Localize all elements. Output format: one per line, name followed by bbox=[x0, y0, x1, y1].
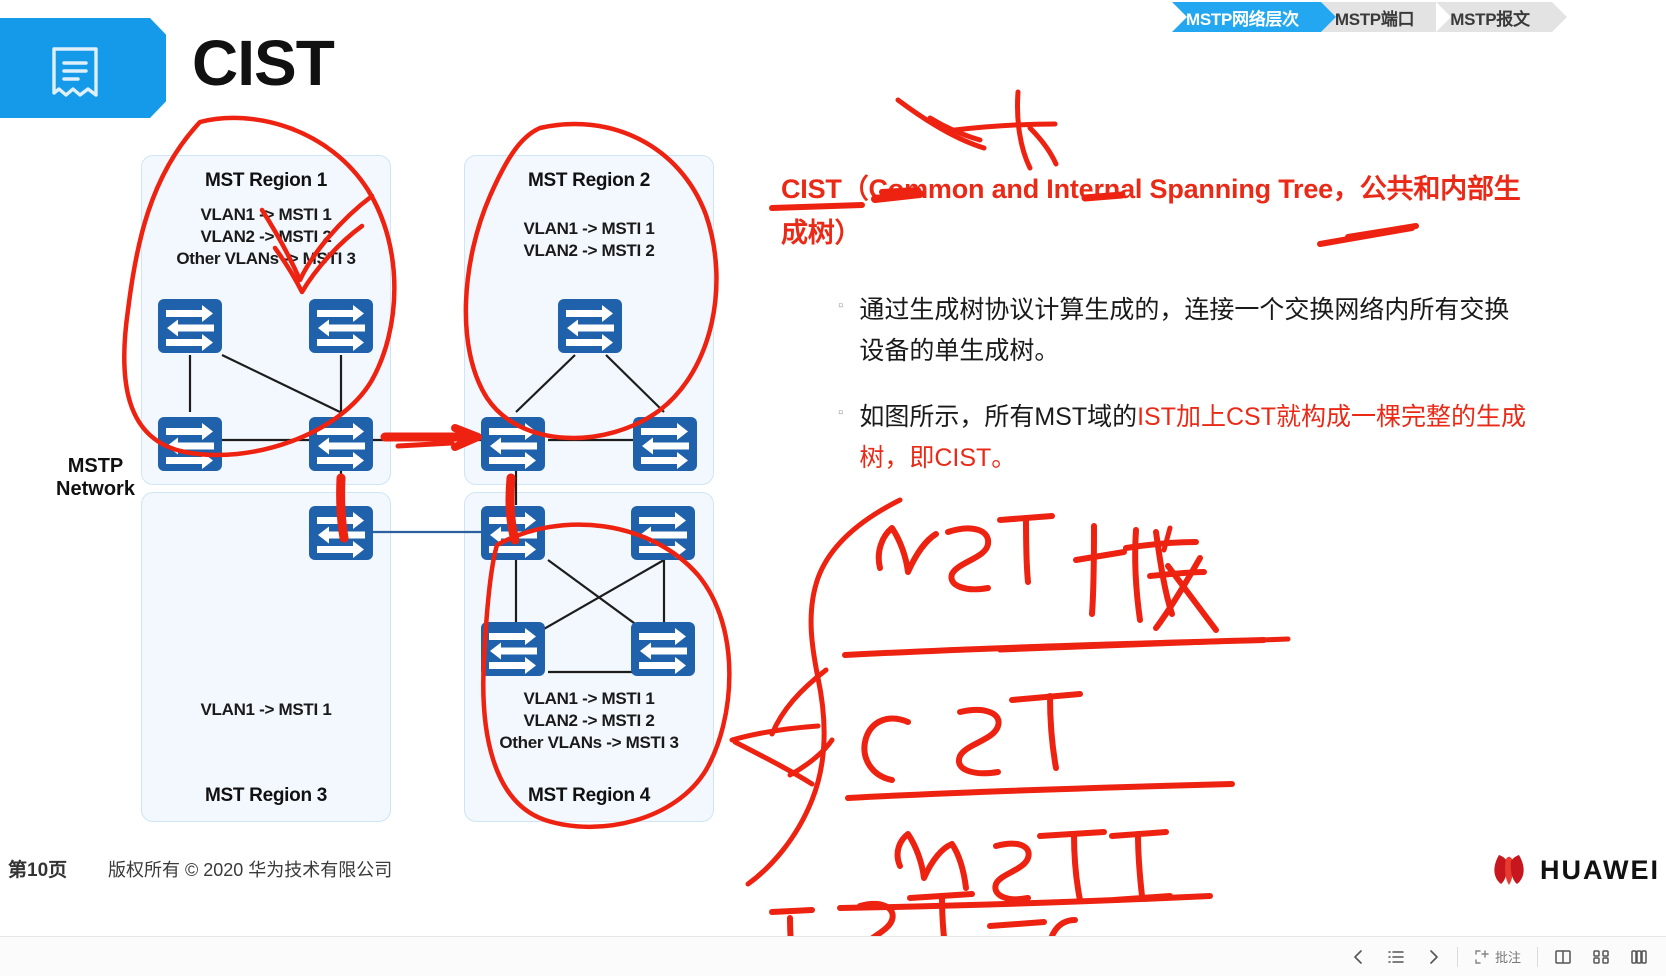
page-list-button[interactable] bbox=[1377, 941, 1415, 973]
book-view-icon bbox=[1554, 949, 1572, 965]
column-view-icon bbox=[1630, 949, 1648, 965]
next-page-button[interactable] bbox=[1415, 941, 1451, 973]
chevron-left-icon bbox=[1351, 949, 1367, 965]
switch-r2-bottom-right bbox=[633, 417, 697, 471]
page-title: CIST bbox=[192, 26, 334, 100]
annotate-button[interactable]: 批注 bbox=[1464, 941, 1531, 973]
bullet-text: 通过生成树协议计算生成的，连接一个交换网络内所有交换设备的单生成树。 bbox=[859, 290, 1528, 371]
toolbar-divider bbox=[1457, 947, 1458, 967]
page-number-label: 第10页 bbox=[8, 855, 67, 882]
heading-line-1: CIST（Common and Internal Spanning Tree，公… bbox=[781, 168, 1581, 212]
switch-r1-bottom-left bbox=[158, 417, 222, 471]
switch-r4-bottom-left bbox=[481, 622, 545, 676]
heading-line-2: 成树） bbox=[781, 212, 1581, 256]
bullet-text-black: 如图所示，所有MST域的 bbox=[859, 403, 1137, 431]
title-banner bbox=[0, 18, 150, 118]
bullet-dot-icon: ▫ bbox=[838, 397, 843, 478]
diagram-links bbox=[0, 140, 760, 840]
cist-definition-heading: CIST（Common and Internal Spanning Tree，公… bbox=[781, 168, 1581, 255]
prev-page-button[interactable] bbox=[1341, 941, 1377, 973]
list-icon bbox=[1387, 949, 1405, 965]
mstp-network-diagram: MSTP Network MST Region 1 VLAN1 -> MSTI … bbox=[0, 140, 760, 840]
document-list-icon bbox=[48, 46, 102, 107]
switch-r1-top-left bbox=[158, 299, 222, 353]
tab-mstp-packet[interactable]: MSTP报文 bbox=[1436, 2, 1551, 32]
bullet-item-1: ▫ 通过生成树协议计算生成的，连接一个交换网络内所有交换设备的单生成树。 bbox=[838, 290, 1528, 371]
column-view-button[interactable] bbox=[1620, 941, 1658, 973]
section-tab-bar[interactable]: MSTP网络层次 MSTP端口 MSTP报文 bbox=[1172, 2, 1666, 36]
annotate-icon bbox=[1474, 949, 1491, 965]
switch-r1-bottom-right bbox=[309, 417, 373, 471]
grid-view-button[interactable] bbox=[1582, 941, 1620, 973]
book-view-button[interactable] bbox=[1544, 941, 1582, 973]
huawei-logo: HUAWEI bbox=[1489, 853, 1660, 887]
switch-r2-bottom-left bbox=[481, 417, 545, 471]
bullet-dot-icon: ▫ bbox=[838, 290, 843, 371]
tab-label: MSTP端口 bbox=[1335, 5, 1414, 30]
tab-mstp-network-layers[interactable]: MSTP网络层次 bbox=[1172, 2, 1321, 32]
bullet-list: ▫ 通过生成树协议计算生成的，连接一个交换网络内所有交换设备的单生成树。 ▫ 如… bbox=[838, 290, 1528, 504]
switch-r4-top-left bbox=[481, 506, 545, 560]
slide-canvas: MSTP网络层次 MSTP端口 MSTP报文 CIST MSTP Network bbox=[0, 0, 1666, 976]
switch-r1-top-right bbox=[309, 299, 373, 353]
switch-r4-bottom-right bbox=[631, 622, 695, 676]
switch-r2-top bbox=[558, 299, 622, 353]
bullet-text: 如图所示，所有MST域的IST加上CST就构成一棵完整的生成树，即CIST。 bbox=[859, 397, 1528, 478]
huawei-flower-icon bbox=[1489, 853, 1531, 887]
copyright-label: 版权所有 © 2020 华为技术有限公司 bbox=[108, 856, 392, 882]
annotate-label: 批注 bbox=[1495, 947, 1521, 966]
bullet-item-2: ▫ 如图所示，所有MST域的IST加上CST就构成一棵完整的生成树，即CIST。 bbox=[838, 397, 1528, 478]
switch-r4-top-right bbox=[631, 506, 695, 560]
huawei-wordmark: HUAWEI bbox=[1540, 855, 1660, 886]
tab-mstp-port[interactable]: MSTP端口 bbox=[1321, 2, 1436, 32]
tab-label: MSTP网络层次 bbox=[1186, 5, 1299, 30]
grid-view-icon bbox=[1592, 949, 1610, 965]
toolbar-divider bbox=[1537, 947, 1538, 967]
tab-label: MSTP报文 bbox=[1450, 5, 1529, 30]
chevron-right-icon bbox=[1425, 949, 1441, 965]
bottom-toolbar[interactable]: 批注 bbox=[0, 936, 1666, 976]
switch-r3-top bbox=[309, 506, 373, 560]
